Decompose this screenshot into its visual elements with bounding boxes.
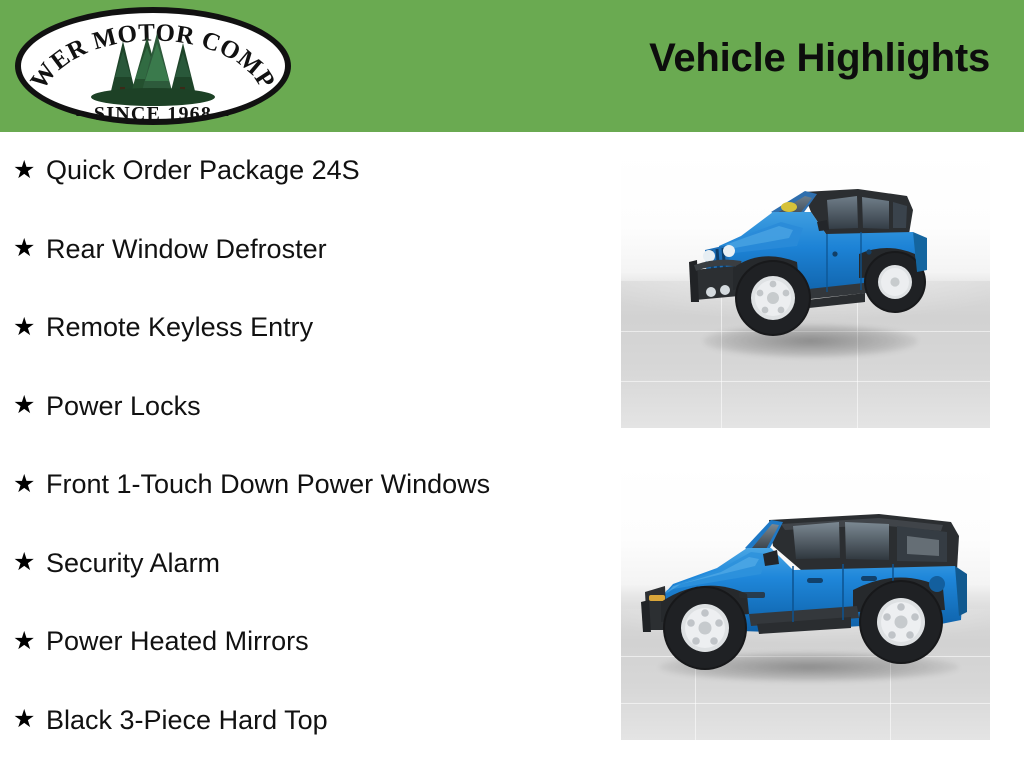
jeep-wrangler-side-profile-illustration	[621, 462, 990, 740]
logo-artwork: FLOWER MOTOR COMPANY	[15, 7, 291, 125]
jeep-wrangler-front-quarter-illustration	[621, 150, 990, 428]
vehicle-photo-front-three-quarter[interactable]	[621, 150, 990, 428]
star-bullet-icon: ★	[13, 472, 46, 497]
page-content: ★ Quick Order Package 24S ★ Rear Window …	[0, 132, 1024, 768]
list-item: ★ Rear Window Defroster	[0, 211, 600, 290]
list-item-label: Power Locks	[46, 392, 201, 422]
list-item: ★ Front 1-Touch Down Power Windows	[0, 446, 600, 525]
star-bullet-icon: ★	[13, 158, 46, 183]
list-item-label: Quick Order Package 24S	[46, 156, 360, 186]
star-bullet-icon: ★	[13, 393, 46, 418]
page-header: FLOWER MOTOR COMPANY	[0, 0, 1024, 132]
rear-wheel	[859, 580, 943, 664]
list-item: ★ Remote Keyless Entry	[0, 289, 600, 368]
list-item: ★ Power Locks	[0, 368, 600, 447]
list-item: ★ Black 3-Piece Hard Top	[0, 682, 600, 761]
front-wheel	[663, 586, 747, 670]
windshield-sticker	[781, 202, 797, 212]
vehicle-photo-side-profile[interactable]	[621, 462, 990, 740]
list-item-label: Remote Keyless Entry	[46, 313, 313, 343]
dealership-logo: FLOWER MOTOR COMPANY	[15, 7, 291, 125]
list-item: ★ Security Alarm	[0, 525, 600, 604]
star-bullet-icon: ★	[13, 629, 46, 654]
list-item-label: Black 3-Piece Hard Top	[46, 706, 328, 736]
vehicle-highlights-list: ★ Quick Order Package 24S ★ Rear Window …	[0, 132, 600, 760]
star-bullet-icon: ★	[13, 707, 46, 732]
list-item-label: Security Alarm	[46, 549, 220, 579]
star-bullet-icon: ★	[13, 550, 46, 575]
list-item-label: Rear Window Defroster	[46, 235, 327, 265]
list-item: ★ Quick Order Package 24S	[0, 132, 600, 211]
list-item: ★ Power Heated Mirrors	[0, 603, 600, 682]
star-bullet-icon: ★	[13, 315, 46, 340]
star-bullet-icon: ★	[13, 236, 46, 261]
front-wheel	[735, 260, 811, 336]
list-item-label: Front 1-Touch Down Power Windows	[46, 470, 490, 500]
logo-since-text: – SINCE 1968 –	[76, 103, 230, 125]
page-title: Vehicle Highlights	[649, 38, 990, 78]
list-item-label: Power Heated Mirrors	[46, 627, 309, 657]
